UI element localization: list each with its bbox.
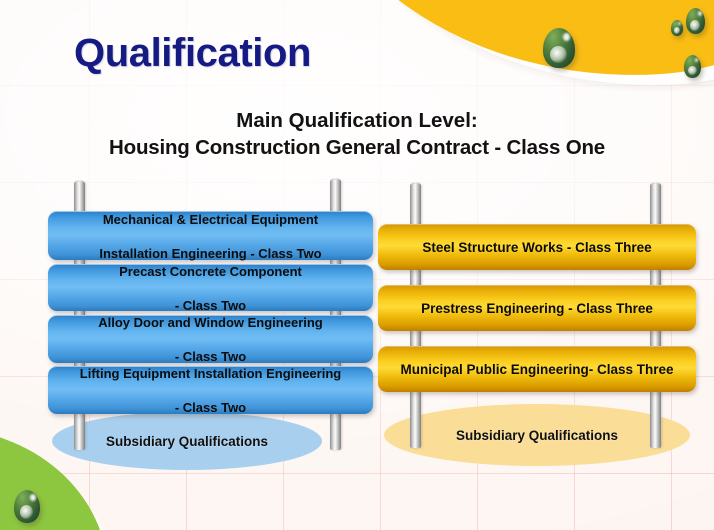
- right-board-2[interactable]: Prestress Engineering - Class Three: [378, 285, 696, 331]
- right-sign-group: Subsidiary Qualifications Steel Structur…: [378, 176, 698, 476]
- slide-canvas: Qualification Main Qualification Level: …: [0, 0, 714, 530]
- left-board-1-line-1: Mechanical & Electrical Equipment: [99, 211, 321, 228]
- subtitle-line-2: Housing Construction General Contract - …: [0, 134, 714, 161]
- left-board-4-line-1: Lifting Equipment Installation Engineeri…: [80, 365, 341, 382]
- right-board-3-line-1: Municipal Public Engineering- Class Thre…: [400, 361, 673, 378]
- droplet-corner-green: [14, 490, 40, 523]
- left-board-4[interactable]: Lifting Equipment Installation Engineeri…: [48, 366, 373, 414]
- right-base-ellipse: Subsidiary Qualifications: [384, 404, 690, 466]
- droplet-large-banner: [543, 28, 575, 68]
- droplet-edge-banner: [684, 55, 701, 78]
- left-board-2-line-1: Precast Concrete Component: [119, 263, 302, 280]
- subtitle-line-1: Main Qualification Level:: [0, 107, 714, 134]
- left-sign-group: Subsidiary Qualifications Mechanical & E…: [48, 176, 378, 476]
- left-board-4-line-2: - Class Two: [80, 399, 341, 416]
- right-board-3[interactable]: Municipal Public Engineering- Class Thre…: [378, 346, 696, 392]
- right-board-1[interactable]: Steel Structure Works - Class Three: [378, 224, 696, 270]
- page-title: Qualification: [74, 31, 311, 76]
- droplet-small-banner: [671, 20, 683, 36]
- right-base-label: Subsidiary Qualifications: [384, 404, 690, 466]
- left-board-3-line-1: Alloy Door and Window Engineering: [98, 314, 323, 331]
- right-board-1-line-1: Steel Structure Works - Class Three: [422, 239, 651, 256]
- right-board-2-line-1: Prestress Engineering - Class Three: [421, 300, 653, 317]
- droplet-medium-banner: [686, 8, 705, 34]
- page-subtitle: Main Qualification Level: Housing Constr…: [0, 107, 714, 161]
